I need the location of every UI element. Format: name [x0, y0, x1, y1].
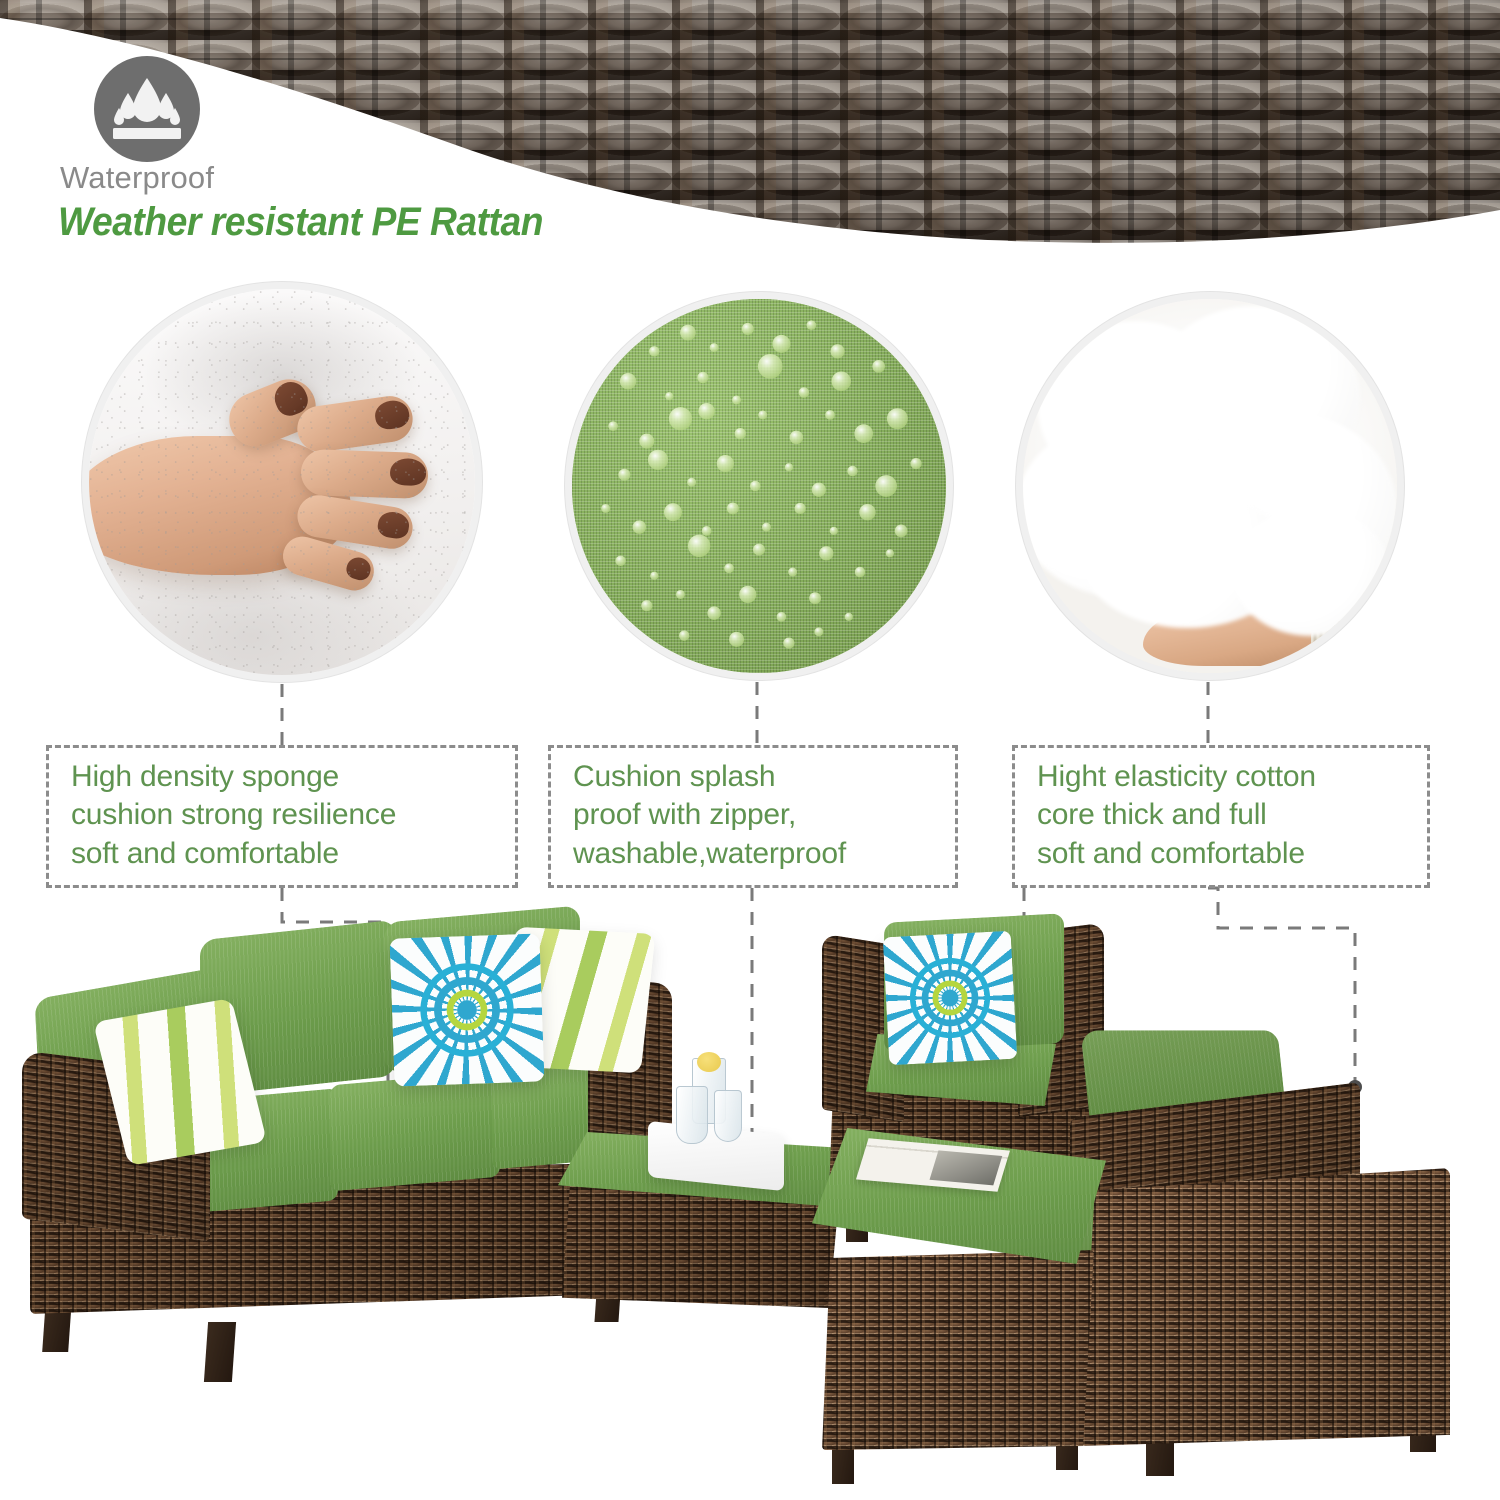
lemon-slice: [697, 1052, 721, 1072]
sofa-seat-cushion: [330, 1071, 500, 1192]
infographic-page: Waterproof Weather resistant PE Rattan: [0, 0, 1500, 1500]
lounge-front-arm: [1080, 1168, 1450, 1446]
feature-image-elasticity-cotton: [1016, 292, 1404, 680]
callout-elasticity-cotton: Hight elasticity cotton core thick and f…: [1012, 745, 1430, 888]
waterproof-droplets-icon: [94, 56, 200, 162]
sofa-patterned-pillow: [389, 933, 544, 1086]
sofa-leg: [204, 1322, 236, 1382]
hand-finger: [278, 532, 378, 595]
product-scene: [0, 900, 1500, 1500]
water-droplets: [572, 299, 946, 673]
armchair-patterned-pillow: [883, 931, 1018, 1066]
feature-image-high-density-sponge: [82, 282, 482, 682]
hand-finger: [295, 393, 416, 455]
hand-palm: [82, 436, 351, 575]
waterproof-label: Waterproof: [60, 160, 214, 196]
callout-text: High density sponge cushion strong resil…: [71, 758, 396, 873]
callout-text: Cushion splash proof with zipper, washab…: [573, 758, 846, 873]
hand-finger: [221, 371, 324, 454]
callout-splash-proof-cushion: Cushion splash proof with zipper, washab…: [548, 745, 958, 888]
wine-glass: [714, 1090, 742, 1142]
drink-glass: [676, 1086, 708, 1144]
page-title: Weather resistant PE Rattan: [58, 200, 543, 245]
callout-high-density-sponge: High density sponge cushion strong resil…: [46, 745, 518, 888]
sponge-foam-photo: [89, 289, 475, 675]
callout-text: Hight elasticity cotton core thick and f…: [1037, 758, 1316, 873]
ottoman-mag-base: [822, 1250, 1094, 1450]
magazine-photo: [930, 1150, 1003, 1185]
hand-finger: [301, 449, 430, 500]
cotton-filling-photo: [1023, 299, 1397, 673]
waterproof-fabric-photo: [572, 299, 946, 673]
hand-finger: [295, 493, 416, 553]
feature-image-splash-proof-cushion: [565, 292, 953, 680]
